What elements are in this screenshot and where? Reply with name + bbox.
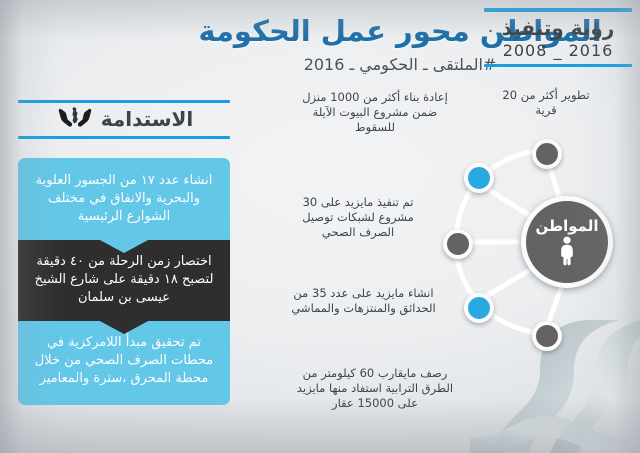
network-node-sewage-networks: [443, 229, 473, 259]
network-label-parks: انشاء مايزيد على عدد 35 من الحدائق والمن…: [286, 286, 441, 316]
infographic-canvas: المواطن محور عمل الحكومة #الملتقى ـ الحك…: [0, 0, 640, 453]
network-label-villages: تطوير أكثر من 20 قرية: [500, 88, 592, 118]
network-node-houses: [464, 163, 494, 193]
network-node-roads: [532, 321, 562, 351]
network-hub-citizen: المواطن: [521, 196, 613, 288]
network-label-roads: رصف مايقارب 60 كيلومتر من الطرق الترابية…: [292, 366, 458, 412]
network-node-parks: [464, 293, 494, 323]
network-node-villages: [532, 139, 562, 169]
hub-label: المواطن: [536, 219, 599, 234]
person-icon: [557, 236, 577, 266]
network-label-houses: إعادة بناء أكثر من 1000 منزل ضمن مشروع ا…: [295, 90, 455, 136]
network-label-sewage-networks: تم تنفيذ مايزيد على 30 مشروع لشبكات توصي…: [286, 195, 430, 241]
